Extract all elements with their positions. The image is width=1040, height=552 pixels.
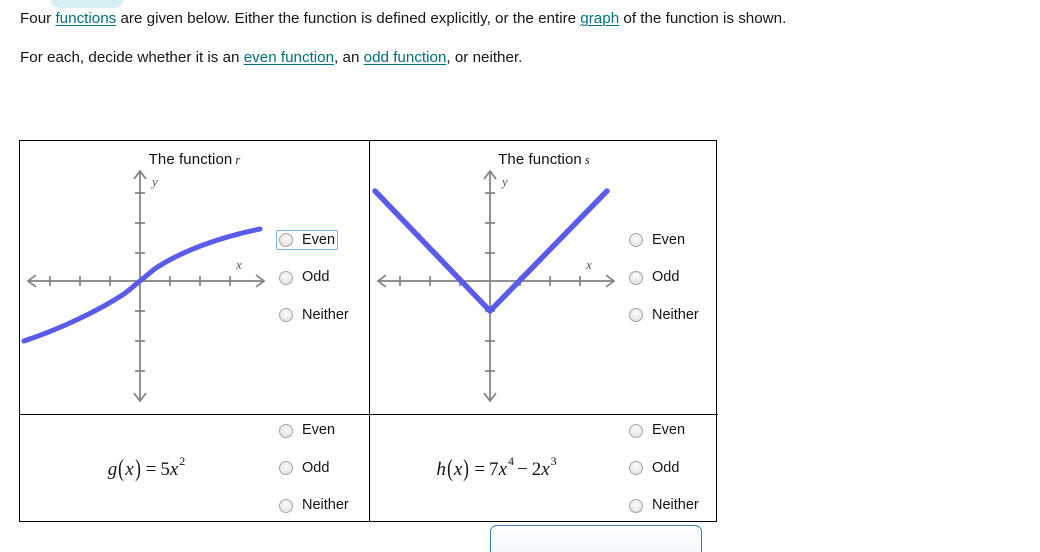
cell-function-g: g(x)=5x2 Even Odd Neither (20, 414, 369, 521)
prompt-line1-part-c: of the function is shown. (619, 10, 786, 27)
choice-r-neither[interactable]: Neither (276, 305, 352, 326)
radio-icon[interactable] (279, 308, 293, 322)
paren-open: ( (118, 456, 124, 483)
choices-h: Even Odd Neither (622, 420, 718, 516)
choice-label: Even (652, 423, 685, 438)
submit-button-partial[interactable] (490, 525, 702, 552)
formula-g-expression: g(x)=5x2 (108, 455, 185, 482)
graph-r-x-label: x (235, 257, 242, 272)
top-tab-pill (50, 0, 124, 8)
formula-h-expression: h(x)=7x4−2x3 (436, 455, 555, 482)
axes-r (28, 171, 264, 401)
choice-label: Odd (302, 270, 329, 285)
choice-label: Neither (652, 308, 699, 323)
prompt-line-2: For each, decide whether it is an even f… (20, 47, 1030, 69)
formula-h-exponent-1: 4 (508, 454, 514, 468)
paren-close: ) (463, 456, 469, 483)
choices-s: Even Odd Neither (622, 230, 718, 326)
radio-icon[interactable] (629, 308, 643, 322)
formula-h: h(x)=7x4−2x3 (370, 429, 622, 508)
graph-s: y x (370, 141, 622, 414)
choice-s-even[interactable]: Even (626, 230, 688, 251)
formula-h-name: h (436, 459, 446, 480)
prompt-line1-part-a: Four (20, 10, 55, 27)
choices-r: Even Odd Neither (272, 230, 369, 326)
radio-icon[interactable] (629, 233, 643, 247)
prompt-line2-part-c: , or neither. (446, 49, 522, 66)
choice-label: Odd (652, 270, 679, 285)
choice-label: Even (302, 423, 335, 438)
formula-g-exponent: 2 (179, 454, 185, 468)
formula-g-arg: x (125, 459, 133, 480)
radio-icon[interactable] (279, 271, 293, 285)
choice-label: Odd (652, 461, 679, 476)
paren-open: ( (447, 456, 453, 483)
formula-h-arg: x (454, 459, 462, 480)
prompt-line-1: Four functions are given below. Either t… (20, 8, 1030, 30)
choice-h-even[interactable]: Even (626, 420, 688, 441)
cell-function-h: h(x)=7x4−2x3 Even Odd Neither (369, 414, 718, 521)
graph-s-y-label: y (500, 174, 508, 189)
graph-r-svg: y x (20, 161, 272, 411)
formula-h-coef-1: 7 (489, 459, 499, 480)
choice-h-neither[interactable]: Neither (626, 495, 702, 516)
choice-s-neither[interactable]: Neither (626, 305, 702, 326)
choice-label: Odd (302, 461, 329, 476)
graph-r-curve (24, 229, 260, 341)
choice-r-odd[interactable]: Odd (276, 267, 332, 288)
choice-r-even[interactable]: Even (276, 230, 338, 251)
radio-icon[interactable] (279, 499, 293, 513)
radio-icon[interactable] (629, 499, 643, 513)
cell-function-s: The functions (369, 141, 718, 414)
radio-icon[interactable] (279, 461, 293, 475)
formula-g-coef: 5 (160, 459, 170, 480)
graph-s-curve (375, 191, 607, 311)
formula-h-var-2: x (541, 459, 549, 480)
radio-icon[interactable] (629, 461, 643, 475)
choice-h-odd[interactable]: Odd (626, 458, 682, 479)
choice-g-odd[interactable]: Odd (276, 458, 332, 479)
choice-label: Even (302, 233, 335, 248)
link-even-function[interactable]: even function (244, 49, 334, 66)
graph-r-y-label: y (150, 174, 158, 189)
formula-h-var-1: x (499, 459, 507, 480)
graph-s-x-label: x (585, 257, 592, 272)
choice-label: Even (652, 233, 685, 248)
formula-h-exponent-2: 3 (551, 454, 557, 468)
graph-r: y x (20, 141, 272, 414)
formula-g-var: x (170, 459, 178, 480)
radio-icon[interactable] (279, 233, 293, 247)
radio-icon[interactable] (279, 424, 293, 438)
paren-close: ) (135, 456, 141, 483)
formula-h-coef-2: 2 (532, 459, 542, 480)
choice-label: Neither (302, 498, 349, 513)
prompt-line2-part-a: For each, decide whether it is an (20, 49, 244, 66)
formula-h-equals: = (470, 459, 489, 480)
graph-s-svg: y x (370, 161, 622, 411)
formula-g-name: g (108, 459, 118, 480)
link-odd-function[interactable]: odd function (364, 49, 447, 66)
choice-g-even[interactable]: Even (276, 420, 338, 441)
axes-s (378, 171, 614, 401)
prompt-line2-part-b: , an (334, 49, 364, 66)
formula-g-equals: = (142, 459, 161, 480)
prompt-line1-part-b: are given below. Either the function is … (116, 10, 580, 27)
choice-g-neither[interactable]: Neither (276, 495, 352, 516)
radio-icon[interactable] (629, 271, 643, 285)
formula-h-operator: − (513, 459, 532, 480)
choices-g: Even Odd Neither (272, 420, 369, 516)
formula-g: g(x)=5x2 (20, 429, 272, 508)
choice-label: Neither (302, 308, 349, 323)
link-graph[interactable]: graph (580, 10, 619, 27)
choice-label: Neither (652, 498, 699, 513)
choice-s-odd[interactable]: Odd (626, 267, 682, 288)
question-grid: The functionr (19, 140, 717, 522)
radio-icon[interactable] (629, 424, 643, 438)
prompt-text: Four functions are given below. Either t… (20, 8, 1030, 69)
link-functions[interactable]: functions (55, 10, 116, 27)
cell-function-r: The functionr (20, 141, 369, 414)
